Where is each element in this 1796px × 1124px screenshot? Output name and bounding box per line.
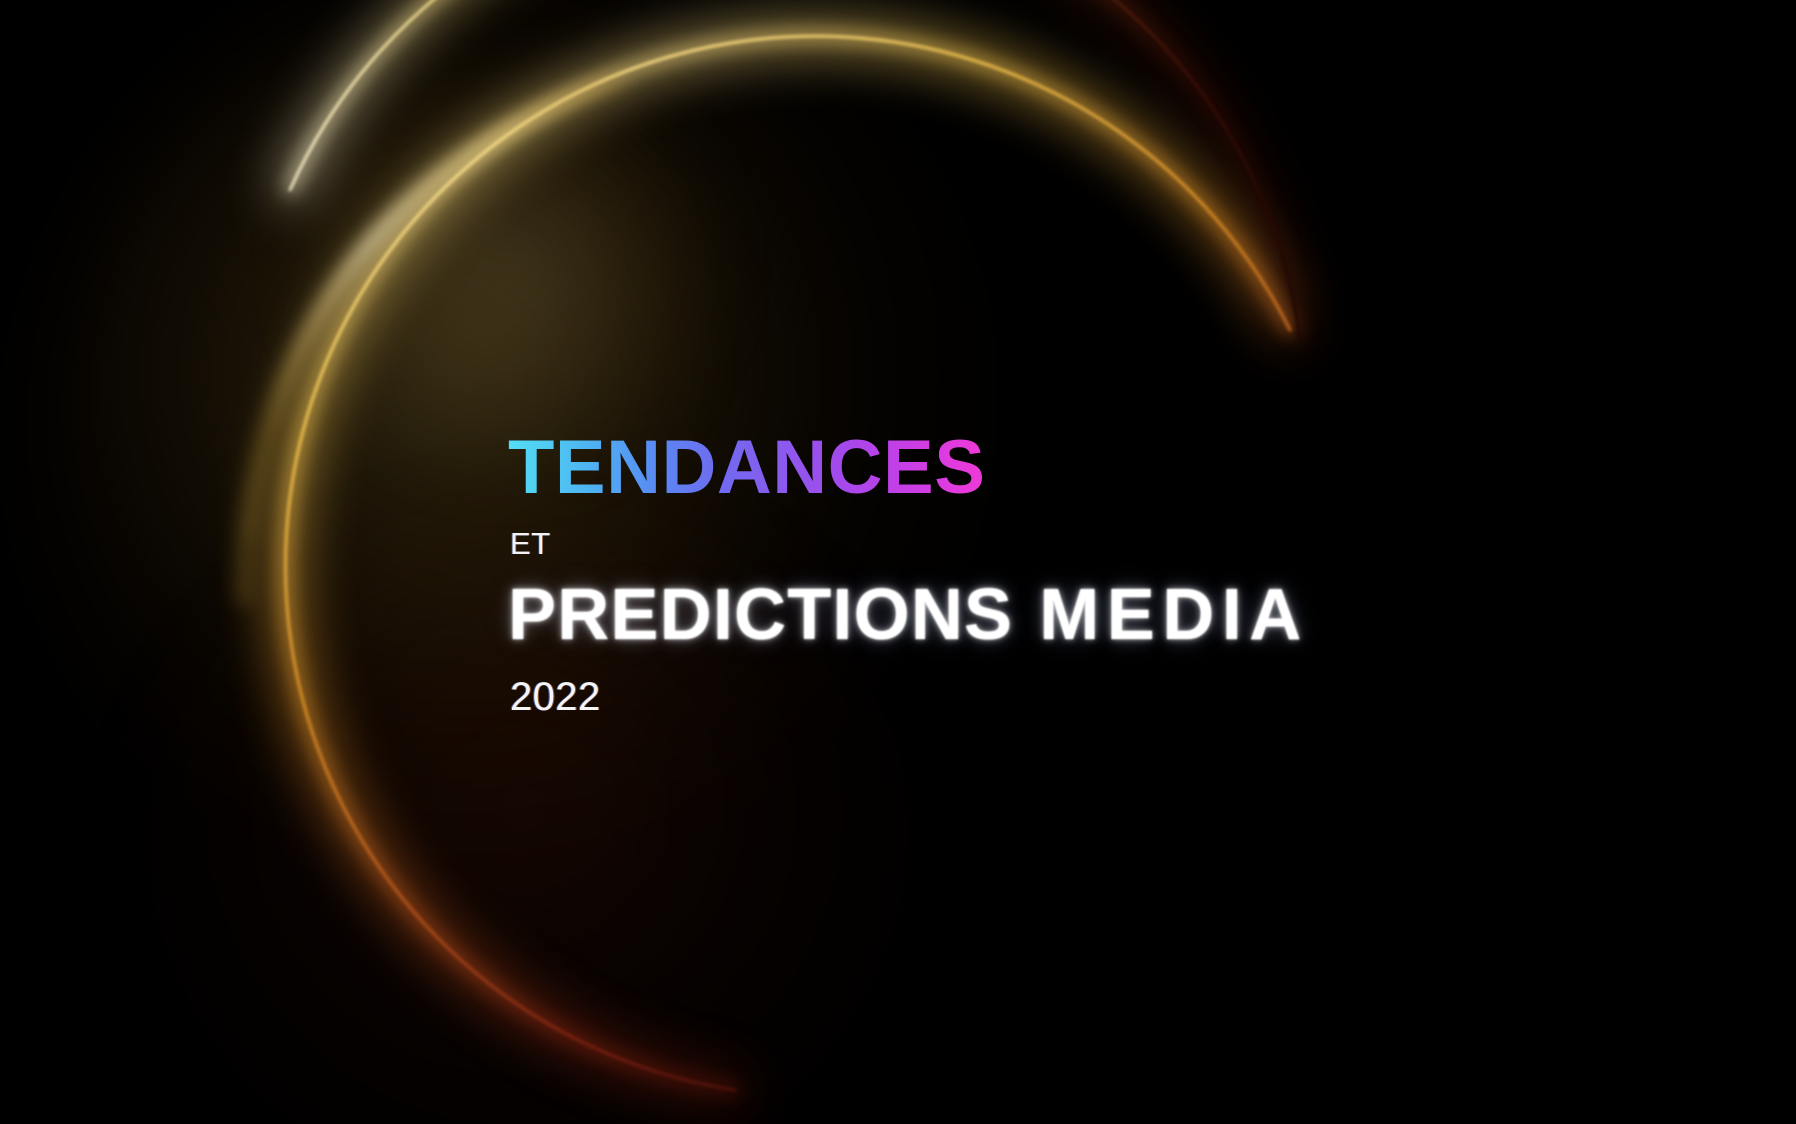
title-text-block: TENDANCES ET PREDICTIONSMEDIA 2022 [508, 430, 1708, 720]
title-line-tendances: TENDANCES [508, 430, 985, 506]
title-word-media: MEDIA [1039, 575, 1309, 655]
title-word-predictions: PREDICTIONS [508, 575, 1013, 655]
title-slide: TENDANCES ET PREDICTIONSMEDIA 2022 [0, 0, 1796, 1124]
title-line-predictions-media: PREDICTIONSMEDIA [508, 578, 1708, 653]
title-connector-et: ET [510, 526, 1708, 562]
title-year: 2022 [510, 675, 1708, 720]
